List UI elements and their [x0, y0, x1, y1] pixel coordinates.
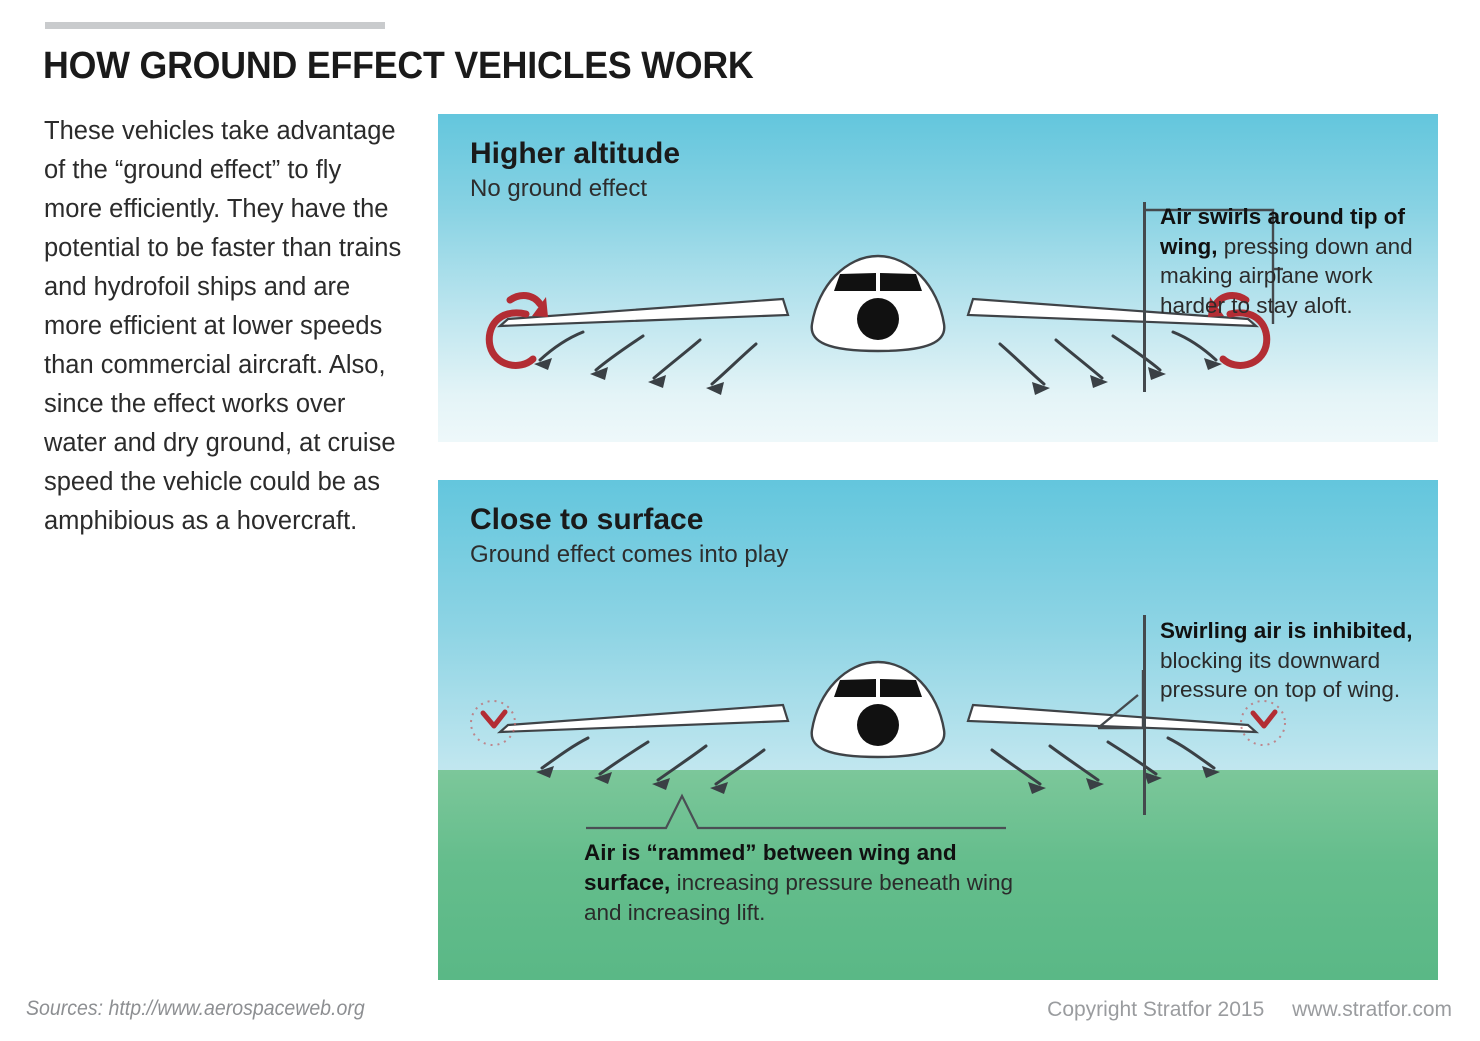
page-title: HOW GROUND EFFECT VEHICLES WORK [43, 45, 754, 88]
vortex-swirl-left [489, 295, 548, 365]
callout-text-top: Air swirls around tip of wing, pressing … [1160, 202, 1428, 320]
footer-copyright: Copyright Stratfor 2015 [1047, 998, 1264, 1021]
inhibited-vortex-right [1241, 701, 1285, 745]
downwash-arrowheads-left [536, 766, 728, 794]
downwash-arrows-left [540, 332, 756, 384]
downwash-arrowheads-right [1028, 766, 1220, 794]
ground-callout-text: Air is “rammed” between wing and surface… [584, 838, 1034, 928]
footer-website: www.stratfor.com [1292, 998, 1452, 1021]
panel-higher-altitude: Higher altitude No ground effect [438, 114, 1438, 442]
callout-bottom-rest: blocking its downward pressure on top of… [1160, 648, 1400, 703]
downwash-arrowheads-right [1032, 358, 1222, 395]
footer-copyright-group: Copyright Stratfor 2015 www.stratfor.com [1047, 998, 1452, 1022]
downwash-arrowheads-left [534, 358, 724, 395]
cockpit-window-right [880, 273, 922, 291]
nose-dot [857, 704, 899, 746]
callout-bar-bottom [1143, 615, 1146, 815]
cockpit-window-left [834, 273, 876, 291]
intro-paragraph: These vehicles take advantage of the “gr… [44, 112, 406, 541]
panel-close-to-surface: Close to surface Ground effect comes int… [438, 480, 1438, 980]
ground-callout-pointer [586, 796, 1006, 828]
footer-sources: Sources: http://www.aerospaceweb.org [26, 997, 365, 1021]
downwash-arrows-left [542, 738, 764, 784]
downwash-arrows-right [1000, 332, 1216, 384]
cockpit-window-right [880, 679, 922, 697]
callout-text-bottom: Swirling air is inhibited, blocking its … [1160, 616, 1428, 705]
callout-bottom-bold: Swirling air is inhibited, [1160, 618, 1413, 643]
downwash-arrows-right [992, 738, 1214, 784]
cockpit-window-left [834, 679, 876, 697]
left-wing [500, 705, 788, 732]
nose-dot [857, 298, 899, 340]
infographic-page: HOW GROUND EFFECT VEHICLES WORK These ve… [0, 0, 1480, 1041]
inhibited-vortex-left [471, 701, 515, 745]
callout-bar-top [1143, 202, 1146, 392]
header-rule [45, 22, 385, 29]
